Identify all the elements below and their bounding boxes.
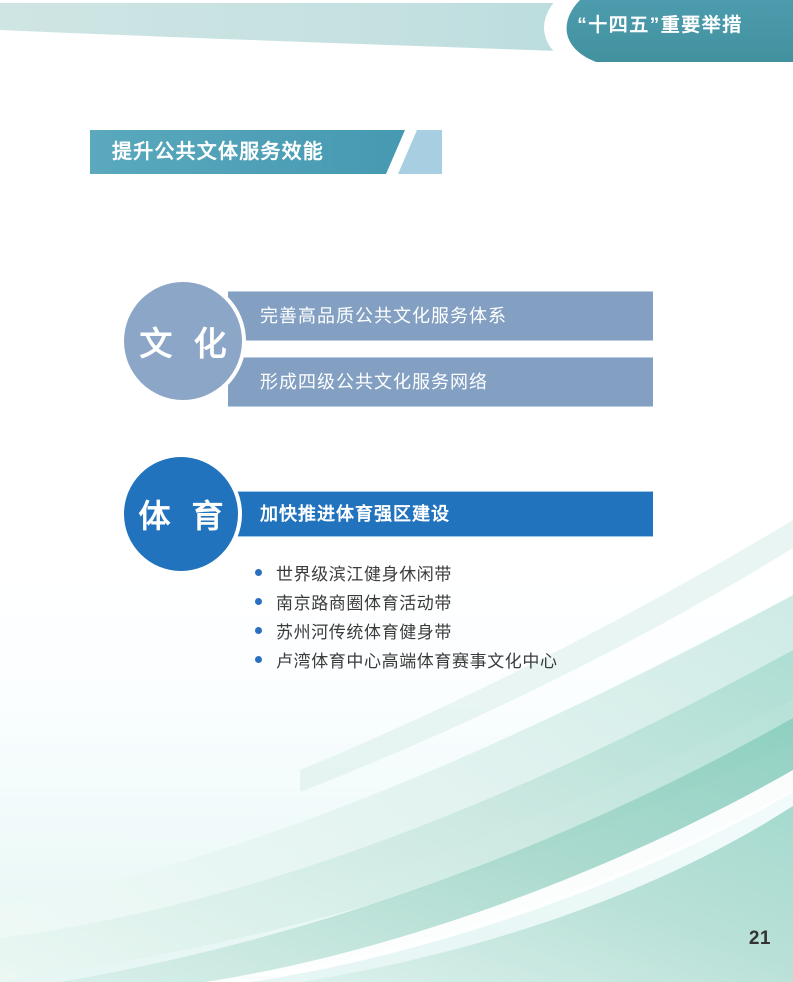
- header-shapes: [0, 0, 793, 80]
- bullet-dot-icon: [255, 627, 262, 634]
- sports-bullet-list: 世界级滨江健身休闲带 南京路商圈体育活动带 苏州河传统体育健身带 卢湾体育中心高…: [255, 562, 558, 678]
- badge-sports: 体 育: [124, 457, 238, 571]
- culture-item-1[interactable]: 完善高品质公共文化服务体系: [228, 291, 653, 341]
- culture-item-1-label: 完善高品质公共文化服务体系: [260, 304, 507, 328]
- list-item[interactable]: 南京路商圈体育活动带: [255, 591, 558, 620]
- sports-item-1-label: 加快推进体育强区建设: [260, 502, 450, 526]
- badge-culture-label: 文 化: [133, 317, 232, 365]
- section-title-text: 提升公共文体服务效能: [112, 139, 324, 165]
- bullet-dot-icon: [255, 598, 262, 605]
- sports-item-1[interactable]: 加快推进体育强区建设: [228, 491, 653, 537]
- list-item-label: 苏州河传统体育健身带: [276, 620, 452, 645]
- list-item[interactable]: 卢湾体育中心高端体育赛事文化中心: [255, 649, 558, 678]
- badge-sports-label: 体 育: [133, 491, 230, 537]
- bullet-dot-icon: [255, 656, 262, 663]
- header-tab-label: “十四五”重要举措: [540, 14, 780, 38]
- list-item-label: 南京路商圈体育活动带: [276, 591, 452, 616]
- list-item[interactable]: 苏州河传统体育健身带: [255, 620, 558, 649]
- badge-culture: 文 化: [124, 282, 242, 400]
- culture-item-2[interactable]: 形成四级公共文化服务网络: [228, 357, 653, 407]
- list-item-label: 卢湾体育中心高端体育赛事文化中心: [276, 649, 558, 674]
- bullet-dot-icon: [255, 569, 262, 576]
- page-number: 21: [749, 928, 771, 950]
- page-header: “十四五”重要举措: [0, 0, 793, 80]
- list-item-label: 世界级滨江健身休闲带: [276, 562, 452, 587]
- group-culture: 文 化 完善高品质公共文化服务体系 形成四级公共文化服务网络: [0, 282, 793, 422]
- section-title-bar: 提升公共文体服务效能: [90, 130, 442, 174]
- list-item[interactable]: 世界级滨江健身休闲带: [255, 562, 558, 591]
- group-sports: 体 育 加快推进体育强区建设 世界级滨江健身休闲带 南京路商圈体育活动带 苏州河…: [0, 457, 793, 687]
- page-root: “十四五”重要举措 提升公共文体服务效能 文 化 完善高品质公共文化服务体系 形…: [0, 0, 793, 982]
- culture-item-2-label: 形成四级公共文化服务网络: [260, 370, 488, 394]
